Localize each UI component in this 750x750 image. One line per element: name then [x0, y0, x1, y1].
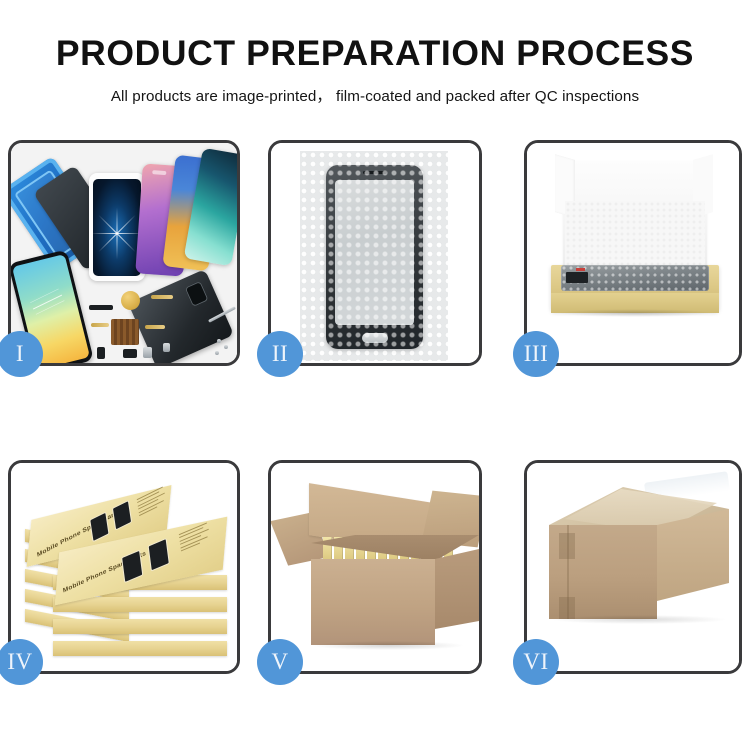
- process-steps-grid: I II: [0, 0, 750, 750]
- box-phone-image-4: [148, 538, 170, 572]
- carton-seams: [549, 525, 657, 619]
- spare-part-button: [123, 349, 137, 358]
- bubble-wrapped-screen-in-box: [561, 265, 709, 291]
- box-spec-lines-2: [179, 522, 211, 554]
- step-2-image: [271, 143, 479, 363]
- spare-part-connector: [97, 347, 105, 359]
- step-panel-1[interactable]: I: [8, 140, 240, 366]
- sealed-carton-scene: [527, 463, 739, 671]
- step-panel-3[interactable]: III: [524, 140, 742, 366]
- step-badge-2: II: [257, 331, 303, 377]
- step-4-image: Mobile Phone Spare Parts Mobile Phone Sp…: [11, 463, 237, 671]
- step-panel-6[interactable]: VI: [524, 460, 742, 674]
- bubble-wrap-scene: [271, 143, 479, 363]
- spare-part-chip-array: [111, 319, 139, 345]
- spare-part-flex-cable-3: [145, 325, 165, 329]
- open-kraft-box-scene: [527, 143, 739, 363]
- kraft-box-stack: Mobile Phone Spare Parts Mobile Phone Sp…: [23, 477, 229, 663]
- spare-part-screw-2: [224, 345, 228, 349]
- spare-part-flex-cable-2: [91, 323, 109, 327]
- box-phone-image-2: [112, 500, 132, 531]
- spare-part-metal-bracket: [143, 347, 152, 358]
- step-badge-6: VI: [513, 639, 559, 685]
- foam-lining: [565, 201, 705, 273]
- carton-side-face: [435, 549, 479, 629]
- step-badge-4: IV: [0, 639, 43, 685]
- stacked-box-edge-r3: [53, 619, 227, 634]
- step-5-image: [271, 463, 479, 671]
- carton-right-face: [657, 509, 729, 601]
- wrapped-digitizer: [326, 165, 423, 349]
- open-carton-scene: [271, 463, 479, 671]
- spare-part-flex-cable-1: [151, 295, 173, 299]
- step-3-image: [527, 143, 739, 363]
- spare-part-screw-1: [217, 339, 221, 343]
- box-phone-image-1: [89, 512, 109, 543]
- carton-front-face: [311, 559, 435, 645]
- spare-part-screw-plate: [163, 343, 170, 352]
- sealed-carton-drop-shadow: [553, 615, 725, 624]
- stacked-boxes-scene: Mobile Phone Spare Parts Mobile Phone Sp…: [11, 463, 237, 671]
- step-6-image: [527, 463, 739, 671]
- spare-part-screw-3: [215, 351, 219, 355]
- box-phone-image-3: [121, 550, 143, 584]
- step-badge-3: III: [513, 331, 559, 377]
- step-1-image: [11, 143, 237, 363]
- step-panel-5[interactable]: V: [268, 460, 482, 674]
- carton-drop-shadow: [313, 641, 463, 650]
- spare-part-coil: [121, 291, 140, 310]
- step-badge-5: V: [257, 639, 303, 685]
- box-drop-shadow: [557, 309, 713, 317]
- step-panel-4[interactable]: Mobile Phone Spare Parts Mobile Phone Sp…: [8, 460, 240, 674]
- step-panel-2[interactable]: II: [268, 140, 482, 366]
- step-badge-1: I: [0, 331, 43, 377]
- stacked-box-edge-r4: [53, 641, 227, 656]
- spare-part-speaker: [89, 305, 113, 310]
- box-spec-lines-1: [137, 486, 168, 519]
- phone-parts-scene: [11, 143, 237, 363]
